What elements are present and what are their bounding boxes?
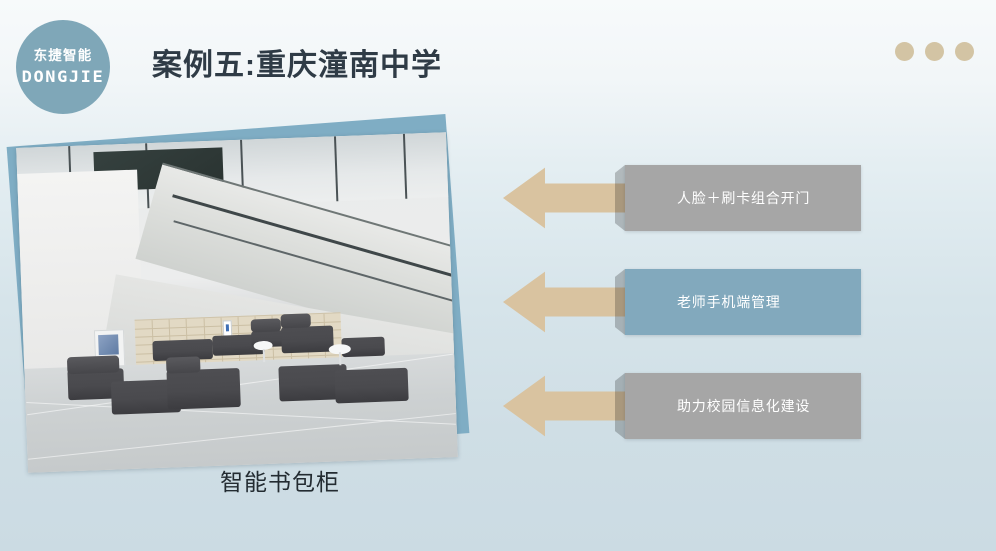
photo-sofa bbox=[334, 368, 408, 403]
slide-canvas: 东捷智能 DONGJIE 案例五:重庆潼南中学 bbox=[0, 0, 996, 551]
decorative-dot-1 bbox=[895, 42, 914, 61]
photo-block bbox=[0, 110, 500, 510]
photo-sofa-back bbox=[251, 319, 282, 333]
photo-frame bbox=[16, 132, 458, 473]
callout-label-2: 老师手机端管理 bbox=[677, 292, 781, 312]
photo-image bbox=[16, 132, 458, 473]
photo-sofa bbox=[281, 325, 334, 353]
photo-sofa bbox=[166, 367, 240, 409]
logo-name-en: DONGJIE bbox=[22, 67, 105, 86]
callout-box-3[interactable]: 助力校园信息化建设 bbox=[625, 373, 861, 439]
photo-kiosk-screen bbox=[98, 335, 118, 355]
page-title: 案例五:重庆潼南中学 bbox=[152, 40, 442, 84]
photo-table-leg bbox=[339, 352, 341, 365]
callout-label-3: 助力校园信息化建设 bbox=[677, 396, 810, 416]
decorative-dot-3 bbox=[955, 42, 974, 61]
photo-caption: 智能书包柜 bbox=[175, 463, 385, 497]
callout-box-2[interactable]: 老师手机端管理 bbox=[625, 269, 861, 335]
photo-sofa-back bbox=[166, 356, 201, 373]
callout-label-1: 人脸＋刷卡组合开门 bbox=[677, 188, 810, 208]
company-logo: 东捷智能 DONGJIE bbox=[16, 20, 110, 114]
photo-table-leg bbox=[262, 349, 264, 362]
decorative-dot-2 bbox=[925, 42, 944, 61]
photo-sofa-back bbox=[280, 313, 311, 329]
photo-sofa-back bbox=[67, 356, 119, 374]
callout-box-1[interactable]: 人脸＋刷卡组合开门 bbox=[625, 165, 861, 231]
logo-name-cn: 东捷智能 bbox=[34, 48, 93, 64]
decorative-dots-group bbox=[895, 42, 974, 61]
